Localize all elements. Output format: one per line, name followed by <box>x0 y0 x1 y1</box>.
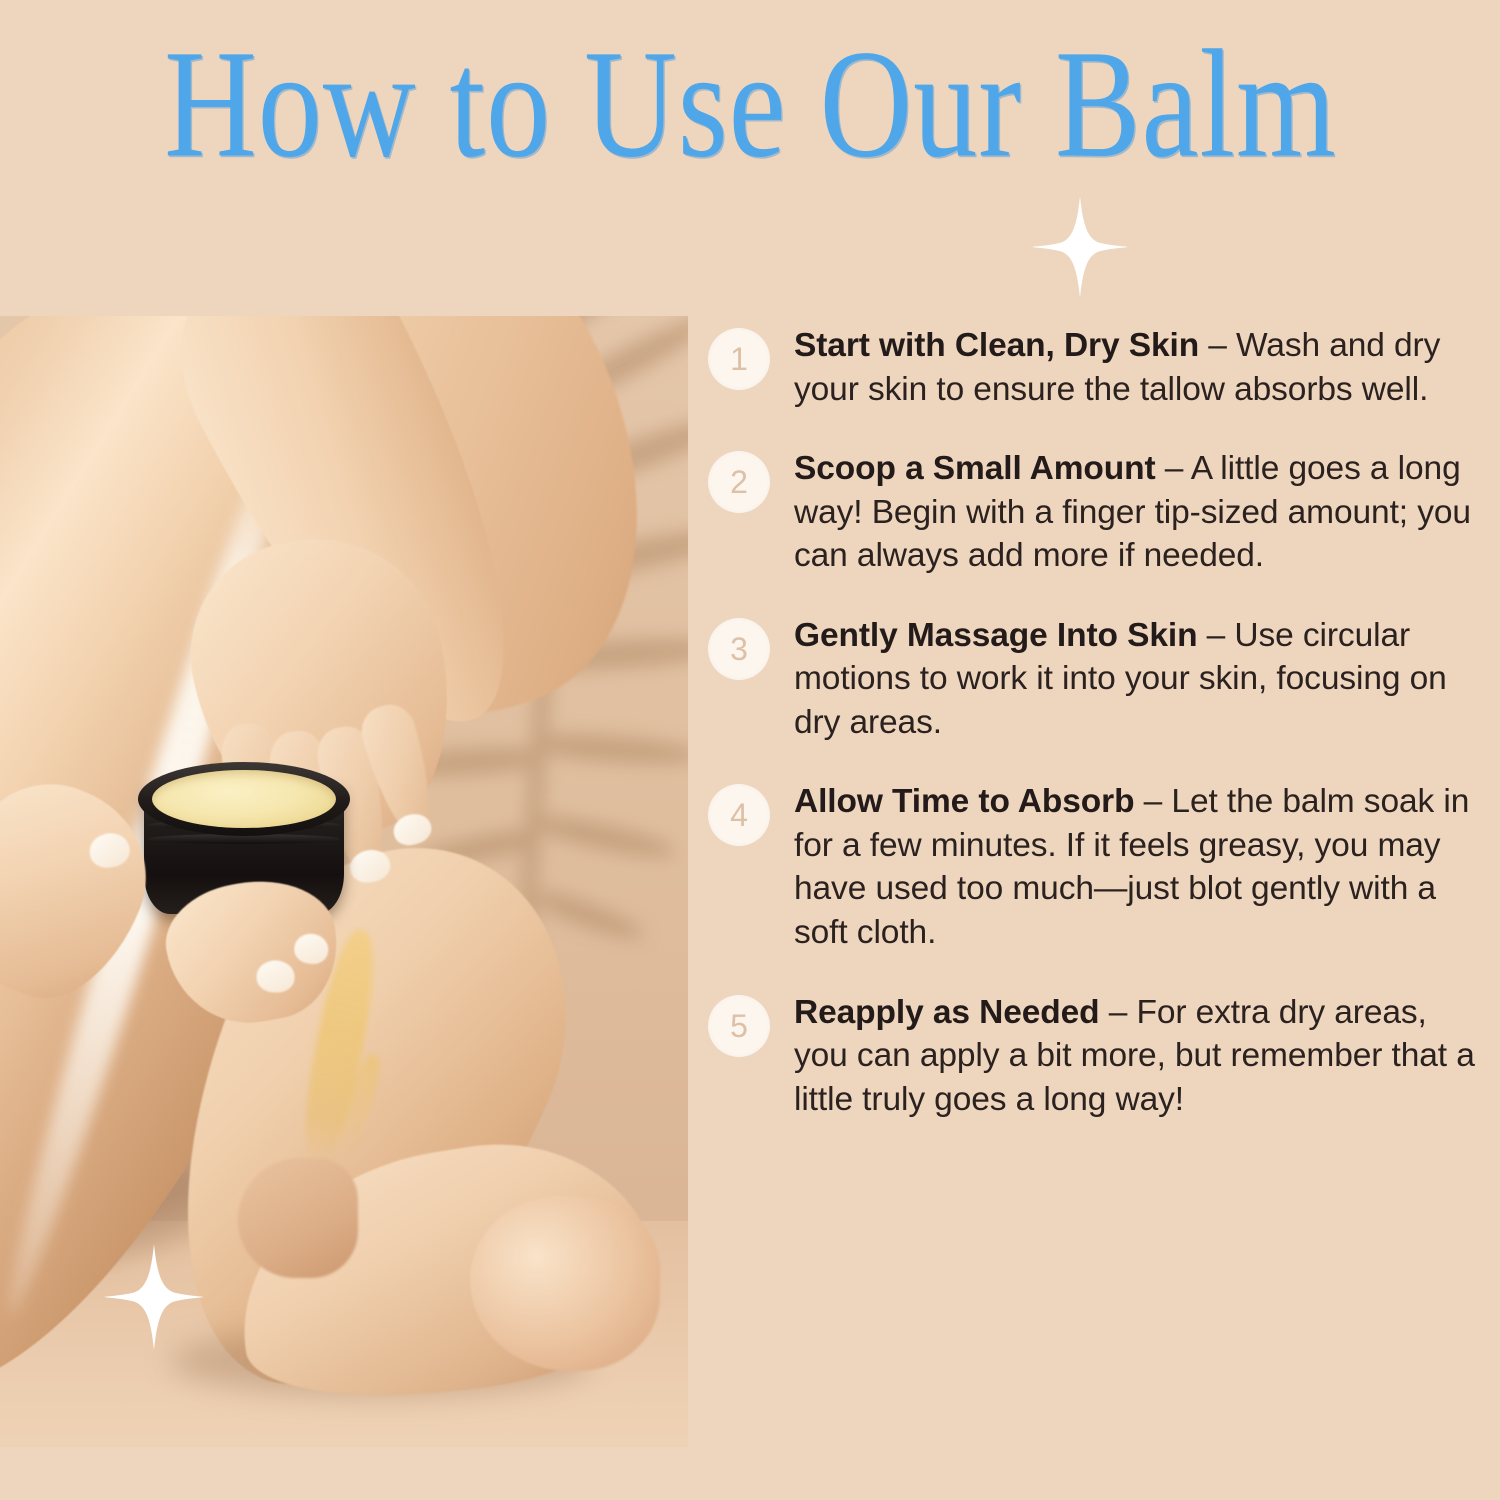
step-title: Start with Clean, Dry Skin <box>794 327 1199 364</box>
step-text: Start with Clean, Dry Skin – Wash and dr… <box>794 322 1476 411</box>
page-title: How to Use Our Balm <box>164 27 1337 182</box>
fingernail <box>87 830 132 870</box>
step-number-badge: 1 <box>708 328 770 390</box>
step-dash: – <box>1156 450 1191 487</box>
step-title: Scoop a Small Amount <box>794 450 1156 487</box>
step-dash: – <box>1100 994 1137 1031</box>
step-title: Gently Massage Into Skin <box>794 617 1197 654</box>
step-number-badge: 3 <box>708 618 770 680</box>
list-item: 1 Start with Clean, Dry Skin – Wash and … <box>708 322 1476 411</box>
step-title: Allow Time to Absorb <box>794 783 1134 820</box>
step-dash: – <box>1199 327 1236 364</box>
list-item: 4 Allow Time to Absorb – Let the balm so… <box>708 778 1476 954</box>
step-text: Reapply as Needed – For extra dry areas,… <box>794 989 1476 1122</box>
product-usage-photo <box>0 316 688 1447</box>
page-title-container: How to Use Our Balm <box>0 34 1500 174</box>
list-item: 5 Reapply as Needed – For extra dry area… <box>708 989 1476 1122</box>
toes <box>238 1158 358 1278</box>
step-dash: – <box>1134 783 1171 820</box>
fingernail <box>256 960 295 993</box>
balm-surface <box>152 770 336 828</box>
instruction-steps-list: 1 Start with Clean, Dry Skin – Wash and … <box>708 322 1476 1155</box>
step-title: Reapply as Needed <box>794 994 1100 1031</box>
step-text: Allow Time to Absorb – Let the balm soak… <box>794 778 1476 954</box>
sparkle-icon <box>1032 196 1128 298</box>
step-number-badge: 5 <box>708 995 770 1057</box>
step-dash: – <box>1197 617 1234 654</box>
poster-canvas: How to Use Our Balm <box>0 0 1500 1500</box>
fingernail <box>292 932 330 966</box>
list-item: 2 Scoop a Small Amount – A little goes a… <box>708 445 1476 578</box>
step-text: Gently Massage Into Skin – Use circular … <box>794 612 1476 745</box>
list-item: 3 Gently Massage Into Skin – Use circula… <box>708 612 1476 745</box>
step-number-badge: 4 <box>708 784 770 846</box>
step-text: Scoop a Small Amount – A little goes a l… <box>794 445 1476 578</box>
step-number-badge: 2 <box>708 451 770 513</box>
